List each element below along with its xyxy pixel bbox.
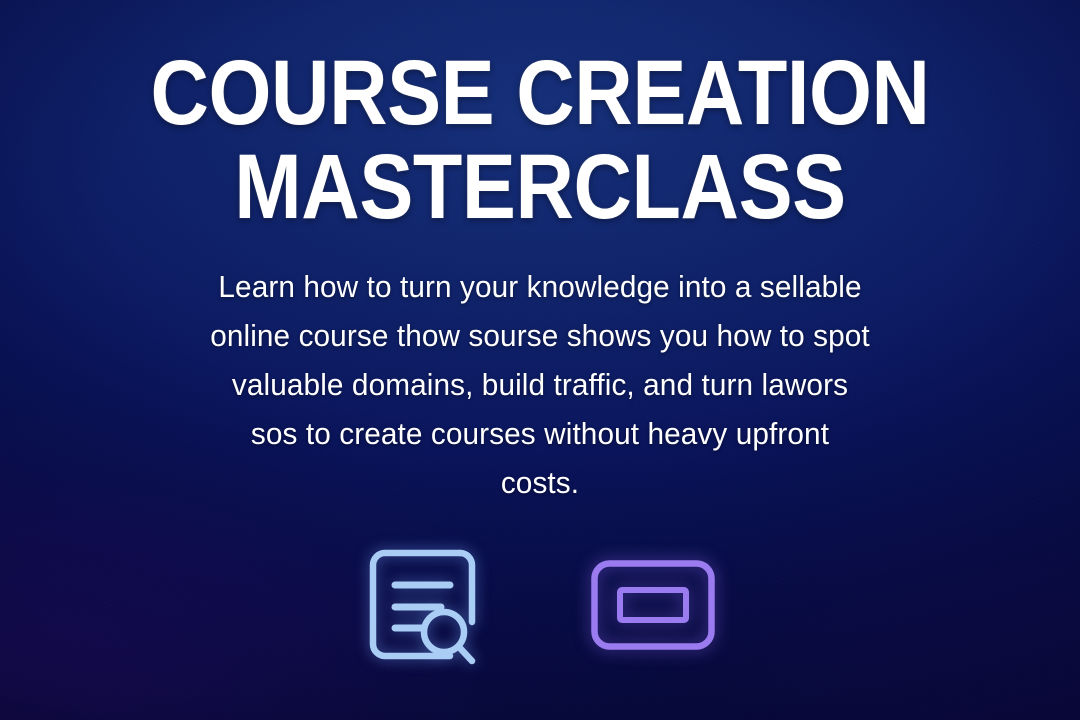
headline-line-1: COURSE CREATION	[109, 48, 971, 139]
slide-content: COURSE CREATION MASTERCLASS Learn how to…	[0, 0, 1080, 720]
document-search-icon	[364, 544, 482, 666]
document-search-icon-svg	[364, 544, 482, 666]
page-title: COURSE CREATION MASTERCLASS	[109, 48, 971, 233]
subheading-line-1: Learn how to turn your knowledge into a …	[194, 263, 885, 312]
card-outline-icon-svg	[590, 559, 716, 651]
subheading-line-2: online course thow sourse shows you how …	[194, 312, 885, 361]
card-outline-icon	[590, 559, 716, 651]
headline-line-2: MASTERCLASS	[109, 142, 971, 233]
icon-row	[364, 544, 716, 666]
subheading-line-4: sos to create courses without heavy upfr…	[194, 410, 885, 459]
subheading-line-5: costs.	[194, 459, 885, 508]
subheading-line-3: valuable domains, build traffic, and tur…	[194, 361, 885, 410]
subheading-text: Learn how to turn your knowledge into a …	[194, 263, 885, 508]
slide-canvas: COURSE CREATION MASTERCLASS Learn how to…	[0, 0, 1080, 720]
